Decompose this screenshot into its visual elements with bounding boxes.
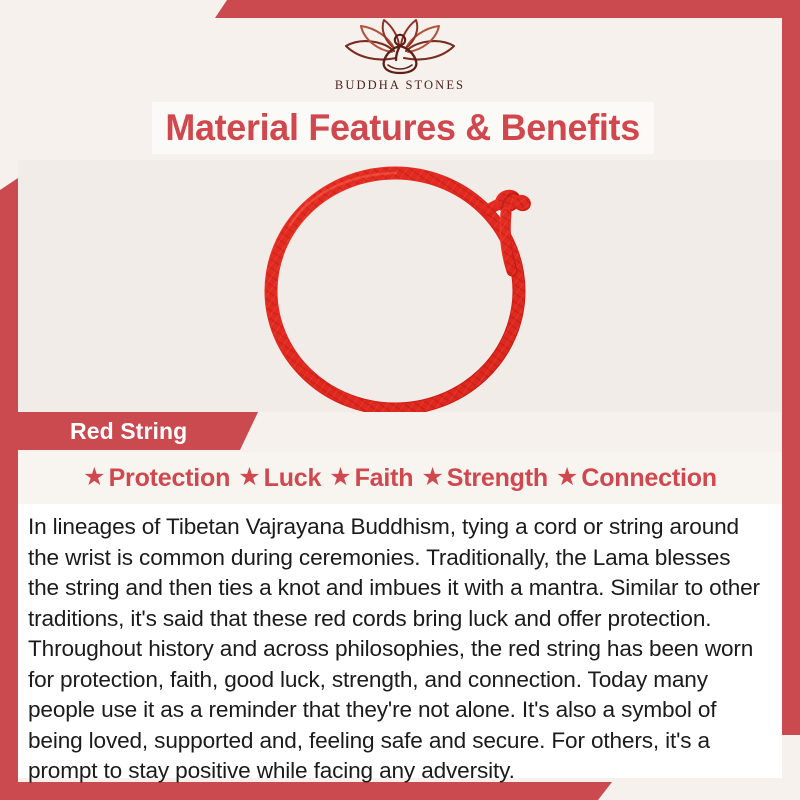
red-braided-cord-bracelet-image (250, 160, 550, 412)
feature-item: ★ Strength (421, 464, 548, 493)
product-label: Red String (70, 418, 187, 445)
star-icon: ★ (83, 465, 105, 490)
description-panel: In lineages of Tibetan Vajrayana Buddhis… (18, 504, 782, 778)
star-icon: ★ (238, 465, 260, 490)
description-text: In lineages of Tibetan Vajrayana Buddhis… (28, 512, 766, 787)
feature-label: Protection (109, 464, 231, 493)
feature-label: Luck (264, 464, 322, 493)
decorative-band-left (0, 178, 18, 800)
title-banner: Material Features & Benefits (152, 102, 654, 154)
product-label-banner: Red String (18, 412, 258, 450)
decorative-band-top (215, 0, 800, 18)
product-image-area (18, 160, 782, 412)
brand-name: BUDDHA STONES (335, 78, 465, 93)
features-row: ★ Protection ★ Luck ★ Faith ★ Strength ★… (18, 452, 782, 504)
feature-item: ★ Luck (238, 464, 321, 493)
feature-label: Connection (581, 464, 717, 493)
star-icon: ★ (421, 465, 443, 490)
lotus-meditation-figure-icon (334, 18, 466, 76)
star-icon: ★ (329, 465, 351, 490)
infographic-page: BUDDHA STONES Material Features & Benefi… (0, 0, 800, 800)
feature-label: Faith (355, 464, 414, 493)
brand-logo: BUDDHA STONES (0, 18, 800, 98)
feature-label: Strength (447, 464, 548, 493)
feature-item: ★ Connection (556, 464, 717, 493)
feature-item: ★ Faith (329, 464, 413, 493)
page-title: Material Features & Benefits (166, 107, 641, 149)
decorative-band-right (782, 0, 800, 735)
feature-item: ★ Protection (83, 464, 230, 493)
star-icon: ★ (556, 465, 578, 490)
